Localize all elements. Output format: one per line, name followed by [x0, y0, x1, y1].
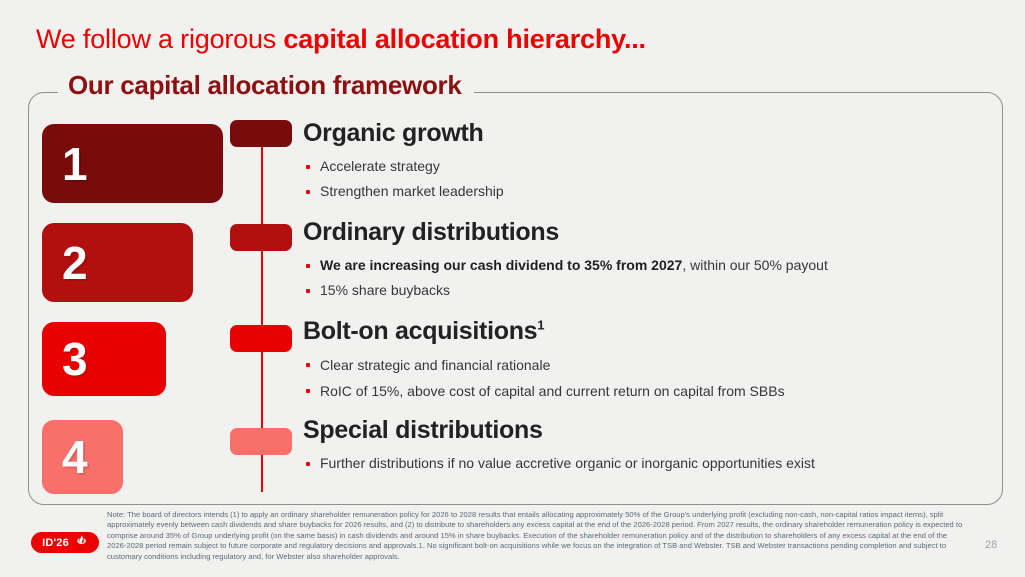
bullet-list-2: We are increasing our cash dividend to 3…	[303, 253, 993, 303]
bullet-2-1-rest: 15% share buybacks	[320, 282, 450, 298]
list-item: 15% share buybacks	[303, 278, 993, 303]
bullet-list-4: Further distributions if no value accret…	[303, 451, 993, 476]
priority-tile-4-number: 4	[62, 430, 88, 484]
investor-day-badge: ID'26	[31, 532, 99, 553]
bullet-2-0-rest: , within our 50% payout	[682, 257, 828, 273]
bullet-list-3: Clear strategic and financial rationale …	[303, 352, 993, 404]
block-heading-3-text: Bolt-on acquisitions	[303, 317, 537, 345]
priority-tile-2-number: 2	[62, 236, 88, 290]
framework-block-organic-growth: Organic growth Accelerate strategy Stren…	[303, 118, 993, 204]
list-item: Accelerate strategy	[303, 154, 993, 179]
block-heading-3-footnote-marker: 1	[537, 318, 544, 333]
page-title-bold: capital allocation hierarchy...	[283, 24, 645, 54]
framework-card-legend: Our capital allocation framework	[58, 70, 474, 100]
priority-tile-2[interactable]: 2	[42, 223, 193, 302]
priority-tile-1-number: 1	[62, 137, 88, 191]
bullet-1-1-rest: Strengthen market leadership	[320, 183, 504, 199]
block-heading-4: Special distributions	[303, 415, 993, 445]
block-heading-3: Bolt-on acquisitions1	[303, 316, 993, 346]
bullet-1-0-rest: Accelerate strategy	[320, 158, 440, 174]
priority-tile-1[interactable]: 1	[42, 124, 223, 203]
priority-tile-3[interactable]: 3	[42, 322, 166, 396]
bullet-2-0-strong: We are increasing our cash dividend to 3…	[320, 257, 682, 273]
timeline-node-4	[230, 428, 292, 455]
block-heading-2-text: Ordinary distributions	[303, 218, 559, 246]
priority-tile-3-number: 3	[62, 332, 88, 386]
investor-day-badge-label: ID'26	[42, 537, 69, 549]
list-item: We are increasing our cash dividend to 3…	[303, 253, 993, 278]
timeline-node-2	[230, 224, 292, 251]
bullet-list-1: Accelerate strategy Strengthen market le…	[303, 154, 993, 204]
list-item: Strengthen market leadership	[303, 179, 993, 204]
footnote-text: Note: The board of directors intends (1)…	[107, 510, 967, 562]
bullet-3-1-rest: RoIC of 15%, above cost of capital and c…	[320, 383, 785, 399]
framework-block-ordinary-distributions: Ordinary distributions We are increasing…	[303, 217, 993, 303]
page-title: We follow a rigorous capital allocation …	[36, 22, 646, 56]
priority-tile-4[interactable]: 4	[42, 420, 123, 494]
list-item: Clear strategic and financial rationale	[303, 352, 993, 378]
block-heading-2: Ordinary distributions	[303, 217, 993, 247]
bullet-4-0-rest: Further distributions if no value accret…	[320, 455, 815, 471]
timeline-node-1	[230, 120, 292, 147]
block-heading-1: Organic growth	[303, 118, 993, 148]
framework-block-bolt-on-acquisitions: Bolt-on acquisitions1 Clear strategic an…	[303, 316, 993, 404]
list-item: RoIC of 15%, above cost of capital and c…	[303, 378, 993, 404]
page-title-light: We follow a rigorous	[36, 24, 283, 54]
framework-block-special-distributions: Special distributions Further distributi…	[303, 415, 993, 476]
page-number: 28	[985, 539, 997, 551]
list-item: Further distributions if no value accret…	[303, 451, 993, 476]
priority-tiles: 1 2 3 4	[42, 124, 227, 494]
bullet-3-0-rest: Clear strategic and financial rationale	[320, 357, 550, 373]
santander-flame-icon	[75, 534, 88, 552]
timeline-node-3	[230, 325, 292, 352]
block-heading-1-text: Organic growth	[303, 119, 484, 147]
block-heading-4-text: Special distributions	[303, 416, 543, 444]
timeline-connector	[230, 120, 294, 495]
